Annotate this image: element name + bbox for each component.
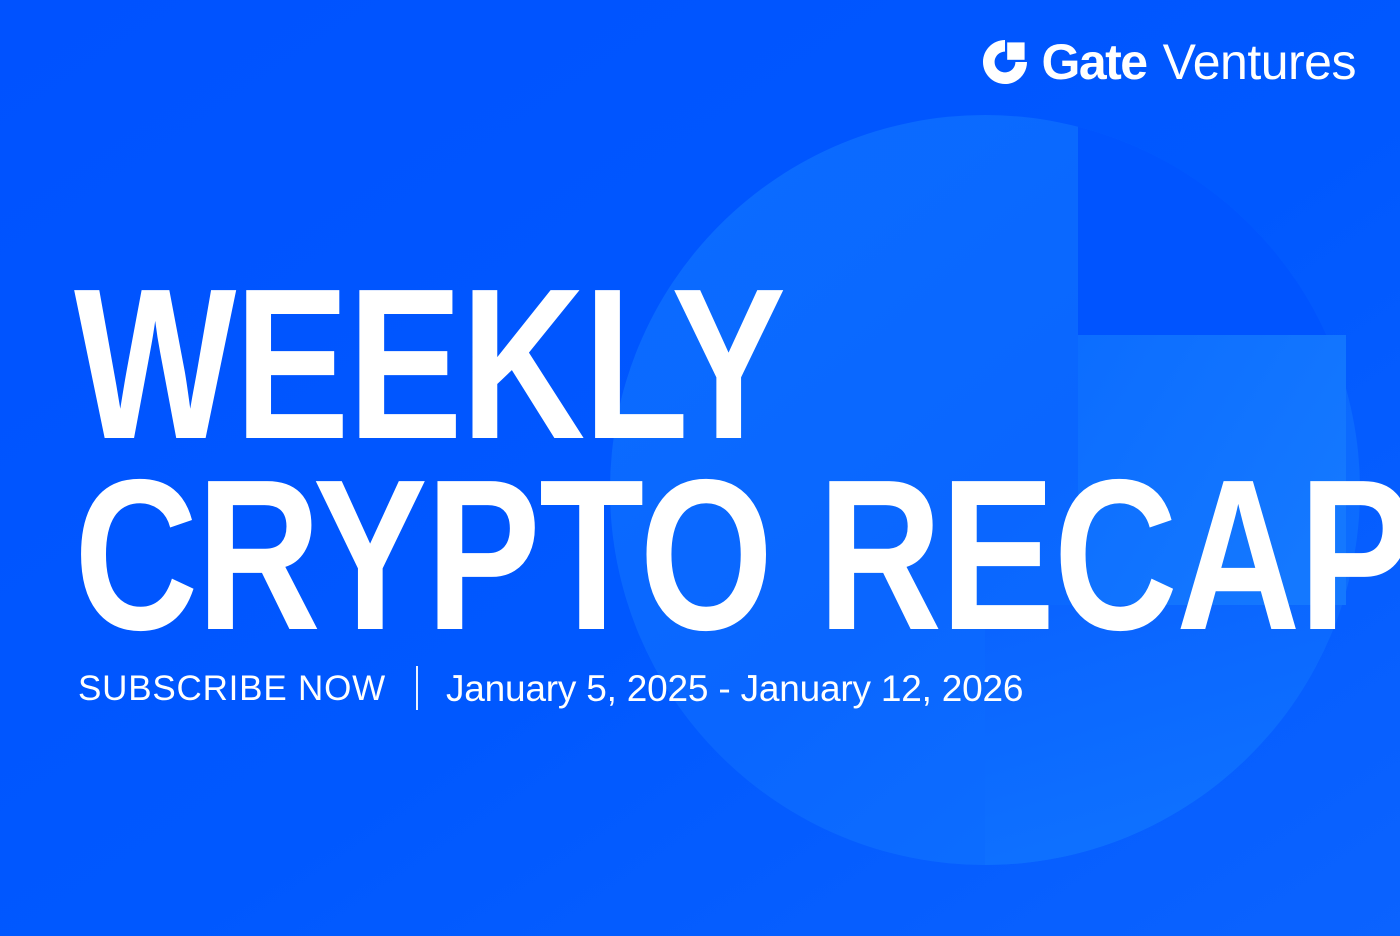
- date-range-label: January 5, 2025 - January 12, 2026: [446, 670, 1023, 707]
- meta-row: SUBSCRIBE NOW January 5, 2025 - January …: [78, 662, 1023, 714]
- meta-divider: [416, 666, 418, 710]
- brand-name-ventures: Ventures: [1163, 37, 1356, 87]
- headline-block: WEEKLY CRYPTO RECAP: [74, 272, 1134, 648]
- headline-line-2: CRYPTO RECAP: [74, 463, 922, 648]
- gate-logo-mark-icon: [983, 40, 1027, 84]
- brand-logo[interactable]: Gate Ventures: [983, 33, 1356, 91]
- brand-wordmark: Gate Ventures: [1041, 37, 1356, 87]
- brand-name-gate: Gate: [1041, 37, 1146, 87]
- subscribe-now-label[interactable]: SUBSCRIBE NOW: [78, 671, 386, 706]
- headline-line-1: WEEKLY: [74, 272, 922, 457]
- weekly-crypto-recap-banner: Gate Ventures WEEKLY CRYPTO RECAP SUBSCR…: [0, 0, 1400, 936]
